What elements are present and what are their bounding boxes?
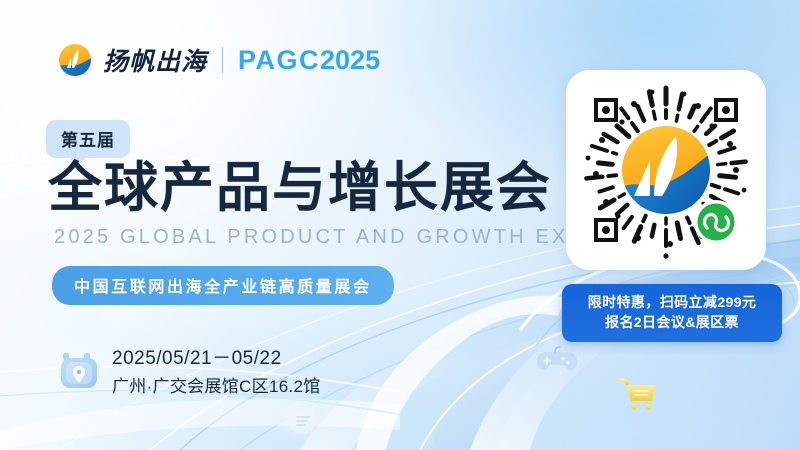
game-controller-icon <box>534 344 578 376</box>
promo-line-1: 限时特惠，扫码立减299元 <box>568 292 776 312</box>
page-title: 全球产品与增长展会 <box>48 160 552 217</box>
brand-name-cn: 扬帆出海 <box>103 42 207 78</box>
brand-pagc-logotype: PAGC2025 <box>238 45 380 76</box>
tagline-pill: 中国互联网出海全产业链高质量展会 <box>52 266 394 305</box>
sail-sun-logo-icon <box>58 43 92 77</box>
event-details: 2025/05/21－05/22 广州·广交会展馆C区16.2馆 <box>58 343 321 397</box>
event-text-block: 2025/05/21－05/22 广州·广交会展馆C区16.2馆 <box>112 343 321 397</box>
event-venue: 广州·广交会展馆C区16.2馆 <box>112 372 321 397</box>
edition-badge: 第五届 <box>46 120 130 158</box>
vertical-divider-icon <box>222 47 223 73</box>
event-date: 2025/05/21－05/22 <box>112 343 321 370</box>
brand-pagc-text: PAGC <box>238 45 320 75</box>
promotional-banner: 扬帆出海 PAGC2025 第五届 全球产品与增长展会 2025 GLOBAL … <box>0 0 800 450</box>
brand-header: 扬帆出海 PAGC2025 <box>58 42 380 78</box>
brand-pagc-year: 2025 <box>320 45 380 75</box>
wechat-miniprogram-qr-icon[interactable] <box>566 70 766 270</box>
promo-banner[interactable]: 限时特惠，扫码立减299元 报名2日会议&展区票 <box>562 284 782 342</box>
promo-line-2: 报名2日会议&展区票 <box>568 312 776 332</box>
shopping-cart-icon <box>616 374 662 414</box>
wechat-miniprogram-badge-icon <box>694 200 738 244</box>
chat-bubble-icon <box>286 404 320 438</box>
location-pin-icon <box>58 349 100 391</box>
